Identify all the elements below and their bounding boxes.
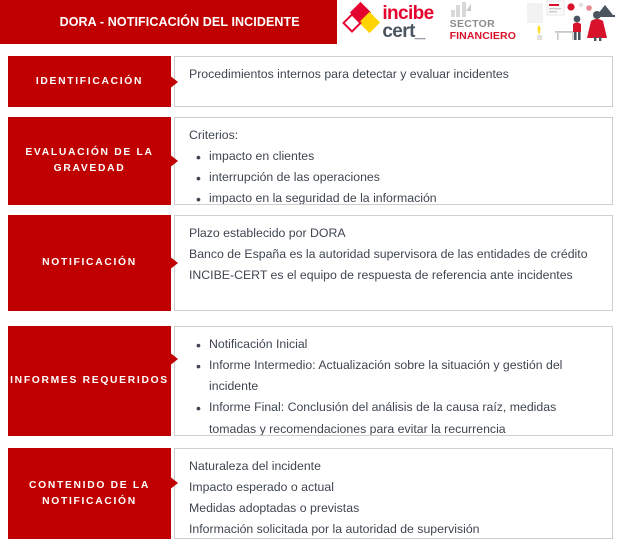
sector-financiero-logo: SECTOR FINANCIERO: [450, 0, 621, 46]
content-box-contenido-notificacion: Naturaleza del incidente Impacto esperad…: [174, 448, 613, 539]
logo-word-incibe: incibe: [382, 4, 433, 23]
row-label: IDENTIFICACIÓN: [36, 74, 143, 90]
row-contenido-notificacion: CONTENIDO DE LA NOTIFICACIÓN Naturaleza …: [0, 448, 621, 539]
list-item: impacto en clientes: [209, 146, 602, 167]
content-line: Plazo establecido por DORA: [189, 223, 602, 244]
bar-chart-icon: [450, 2, 516, 19]
header-title-bar: DORA - NOTIFICACIÓN DEL INCIDENTE: [0, 0, 337, 44]
bullet-list: Notificación Inicial Informe Intermedio:…: [189, 334, 602, 436]
label-box-identificacion: IDENTIFICACIÓN: [8, 56, 171, 107]
list-item: Informe Intermedio: Actualización sobre …: [209, 355, 602, 397]
content-box-notificacion: Plazo establecido por DORA Banco de Espa…: [174, 215, 613, 311]
header: DORA - NOTIFICACIÓN DEL INCIDENTE incibe…: [0, 0, 621, 44]
row-informes-requeridos: INFORMES REQUERIDOS Notificación Inicial…: [0, 326, 621, 436]
content-line: Medidas adoptadas o previstas: [189, 498, 602, 519]
content-line: INCIBE-CERT es el equipo de respuesta de…: [189, 265, 602, 286]
incibe-cert-logo: incibe cert_: [337, 3, 433, 41]
logo-word-cert: cert_: [382, 22, 433, 41]
financiero-label: FINANCIERO: [450, 31, 516, 42]
content-line: Naturaleza del incidente: [189, 456, 602, 477]
content-line: Procedimientos internos para detectar y …: [189, 64, 602, 85]
chevron-right-icon: [164, 71, 178, 93]
label-box-informes-requeridos: INFORMES REQUERIDOS: [8, 326, 171, 436]
chevron-right-icon: [164, 150, 178, 172]
label-box-notificacion: NOTIFICACIÓN: [8, 215, 171, 311]
content-line: Criterios:: [189, 125, 602, 146]
list-item: Notificación Inicial: [209, 334, 602, 355]
content-box-identificacion: Procedimientos internos para detectar y …: [174, 56, 613, 107]
header-logo-area: incibe cert_ SECTOR FINANCIERO: [337, 0, 621, 44]
chevron-right-icon: [164, 472, 178, 494]
chevron-right-icon: [164, 348, 178, 370]
content-line: Banco de España es la autoridad supervis…: [189, 244, 602, 265]
list-item: Informe Final: Conclusión del análisis d…: [209, 397, 602, 436]
content-box-evaluacion-gravedad: Criterios: impacto en clientes interrupc…: [174, 117, 613, 205]
incibe-cert-wordmark: incibe cert_: [382, 4, 433, 41]
dora-incident-notification-infographic: DORA - NOTIFICACIÓN DEL INCIDENTE incibe…: [0, 0, 621, 539]
sector-financiero-block: SECTOR FINANCIERO: [450, 2, 516, 41]
bullet-list: impacto en clientes interrupción de las …: [189, 146, 602, 205]
label-box-contenido-notificacion: CONTENIDO DE LA NOTIFICACIÓN: [8, 448, 171, 539]
row-label: INFORMES REQUERIDOS: [10, 373, 169, 389]
chevron-right-icon: [164, 252, 178, 274]
page-title: DORA - NOTIFICACIÓN DEL INCIDENTE: [38, 15, 300, 29]
list-item: interrupción de las operaciones: [209, 167, 602, 188]
row-notificacion: NOTIFICACIÓN Plazo establecido por DORA …: [0, 215, 621, 311]
list-item: impacto en la seguridad de la informació…: [209, 188, 602, 205]
content-line: Información solicitada por la autoridad …: [189, 519, 602, 539]
people-with-charts-illustration: [525, 0, 621, 46]
content-box-informes-requeridos: Notificación Inicial Informe Intermedio:…: [174, 326, 613, 436]
row-evaluacion-gravedad: EVALUACIÓN DE LA GRAVEDAD Criterios: imp…: [0, 117, 621, 205]
row-identificacion: IDENTIFICACIÓN Procedimientos internos p…: [0, 56, 621, 107]
sector-label: SECTOR: [450, 19, 516, 30]
row-label: NOTIFICACIÓN: [42, 255, 137, 271]
label-box-evaluacion-gravedad: EVALUACIÓN DE LA GRAVEDAD: [8, 117, 171, 205]
content-line: Impacto esperado o actual: [189, 477, 602, 498]
row-label: EVALUACIÓN DE LA GRAVEDAD: [8, 145, 171, 177]
incibe-diamonds-icon: [344, 3, 378, 41]
row-label: CONTENIDO DE LA NOTIFICACIÓN: [8, 478, 171, 510]
